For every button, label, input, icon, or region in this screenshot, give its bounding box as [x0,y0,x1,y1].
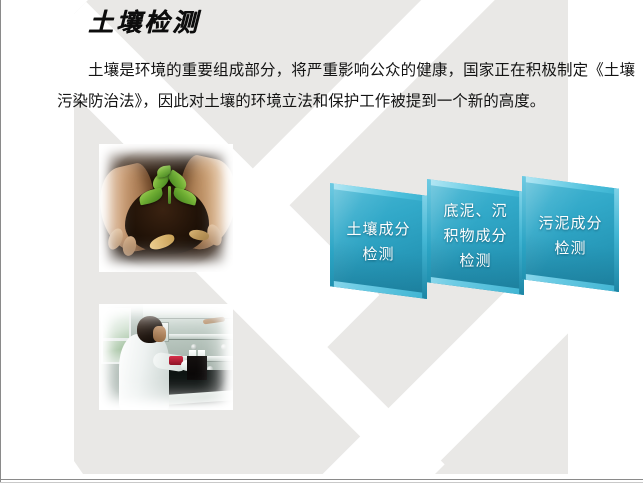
seedling-stem [168,186,171,204]
callout-1-label-line1: 土壤成分 [336,218,421,243]
callout-1-label-line2: 检测 [336,243,421,268]
callout-3-label: 污泥成分 检测 [522,212,619,262]
frame-border-left [0,0,1,483]
body-paragraph: 土壤是环境的重要组成部分，将严重影响公众的健康，国家正在积极制定《土壤污染防治法… [57,55,635,117]
technician-lab-coat [119,334,169,410]
black-instrument [187,356,207,380]
callout-box-sludge-composition[interactable]: 污泥成分 检测 [522,176,619,292]
photo-lab-technician [99,304,233,410]
callout-2-label-line1: 底泥、沉 [433,200,518,225]
callout-2-label-line3: 检测 [433,250,518,275]
page-title: 土壤检测 [88,3,200,39]
callout-3-label-line1: 污泥成分 [528,212,613,237]
photo-hands-holding-soil [99,144,233,272]
callout-2-label-line2: 积物成分 [433,225,518,250]
callout-1-label: 土壤成分 检测 [330,218,427,268]
photo-lab-content [99,304,233,410]
callout-box-sediment-composition[interactable]: 底泥、沉 积物成分 检测 [427,179,524,295]
callout-3-label-line2: 检测 [528,237,613,262]
frame-border-bottom [0,479,643,480]
hood-knob-3 [221,344,227,350]
callout-2-label: 底泥、沉 积物成分 检测 [427,200,524,275]
callout-box-soil-composition[interactable]: 土壤成分 检测 [330,183,427,299]
technician-face [153,326,166,342]
slide-canvas: 土壤检测 土壤是环境的重要组成部分，将严重影响公众的健康，国家正在积极制定《土壤… [0,0,643,483]
photo-soil-content [99,144,233,272]
